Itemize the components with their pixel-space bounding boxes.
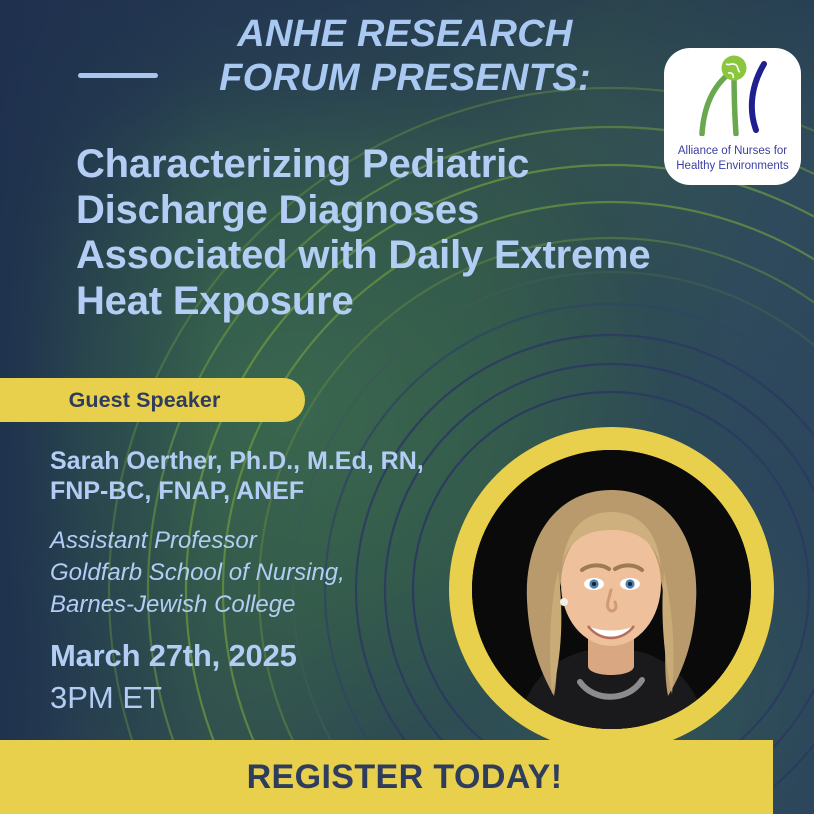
guest-speaker-badge-label: Guest Speaker [0, 378, 305, 422]
event-time: 3PM ET [50, 680, 162, 716]
title-line-2: Discharge Diagnoses [76, 188, 756, 234]
webinar-promo-poster: ANHE RESEARCH FORUM PRESENTS: Alliance o… [0, 0, 814, 814]
title-line-1: Characterizing Pediatric [76, 142, 756, 188]
guest-speaker-badge: Guest Speaker [0, 378, 305, 422]
portrait-illustration-icon [472, 450, 751, 729]
speaker-portrait [449, 427, 774, 752]
page-title: Characterizing Pediatric Discharge Diagn… [76, 142, 756, 324]
register-cta-label: REGISTER TODAY! [0, 740, 773, 814]
kicker-line-2: FORUM PRESENTS: [170, 56, 640, 100]
anhe-logo-mark-icon [664, 54, 801, 136]
portrait-photo [472, 450, 751, 729]
title-line-3: Associated with Daily Extreme [76, 233, 756, 279]
title-line-4: Heat Exposure [76, 279, 756, 325]
divider-dash-icon [78, 73, 158, 78]
kicker-heading: ANHE RESEARCH FORUM PRESENTS: [170, 12, 640, 100]
register-banner[interactable]: REGISTER TODAY! [0, 740, 773, 814]
event-date: March 27th, 2025 [50, 638, 297, 674]
kicker-line-1: ANHE RESEARCH [170, 12, 640, 56]
